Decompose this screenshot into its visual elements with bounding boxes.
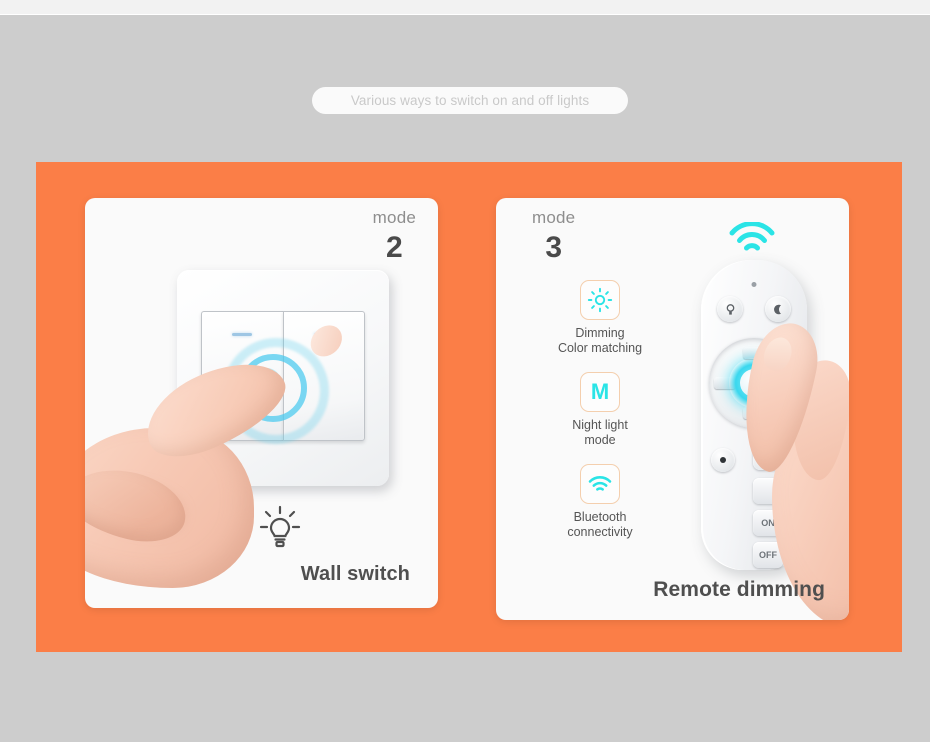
wall-switch-device[interactable] [177,270,389,486]
mode-number: 3 [532,233,575,263]
remote-control-device[interactable]: ON OFF [701,260,807,570]
dpad-center-key[interactable] [740,369,768,397]
rocker-switch-right[interactable] [283,311,366,441]
indicator-led-icon [314,333,334,336]
mode-badge-left: mode 2 [373,209,416,263]
remote-key-blank[interactable] [753,478,783,504]
remote-button-eye[interactable] [753,446,781,470]
bluetooth-signal-icon [580,464,620,504]
browser-top-strip [0,0,930,15]
feature-letter: M [591,381,609,403]
remote-button-bulb[interactable] [717,296,743,322]
mode-number: 2 [373,233,416,263]
remote-button-dot[interactable] [711,448,735,472]
remote-status-led-icon [752,282,757,287]
mode-badge-right: mode 3 [532,209,575,263]
feature-label: Dimming Color matching [558,326,642,356]
mode-label: mode [532,209,575,226]
remote-dpad[interactable] [709,338,799,428]
card-remote-dimming[interactable]: mode 3 [496,198,849,620]
headline-text: Various ways to switch on and off lights [351,93,589,108]
letter-m-icon: M [580,372,620,412]
feature-panel: mode 2 [36,162,902,652]
dot-glyph-icon [718,455,728,465]
sun-brightness-icon [580,280,620,320]
feature-label: Night light mode [572,418,628,448]
remote-key-off[interactable]: OFF [753,542,783,568]
feature-list: Dimming Color matching M Night light mod… [538,280,662,556]
mode-label: mode [373,209,416,226]
feature-label: Bluetooth connectivity [567,510,632,540]
remote-key-on[interactable]: ON [753,510,783,536]
palm-shadow [93,478,186,539]
rocker-switch-left[interactable] [201,311,283,441]
feature-dimming[interactable]: Dimming Color matching [538,280,662,356]
bulb-glyph-icon [724,303,737,316]
feature-night-light[interactable]: M Night light mode [538,372,662,448]
indicator-led-icon [232,333,252,336]
dpad-down-key[interactable] [743,407,765,419]
remote-button-moon[interactable] [765,296,791,322]
eye-glyph-icon [759,452,775,464]
caption-wall-switch: Wall switch [301,563,410,586]
caption-remote-dimming: Remote dimming [653,578,825,602]
headline-banner: Various ways to switch on and off lights [312,87,628,114]
wall-switch-rockers [201,311,365,441]
card-wall-switch[interactable]: mode 2 [85,198,438,608]
moon-glyph-icon [772,303,785,316]
wifi-signal-icon [728,222,776,259]
feature-bluetooth[interactable]: Bluetooth connectivity [538,464,662,540]
lightbulb-icon [255,498,305,555]
